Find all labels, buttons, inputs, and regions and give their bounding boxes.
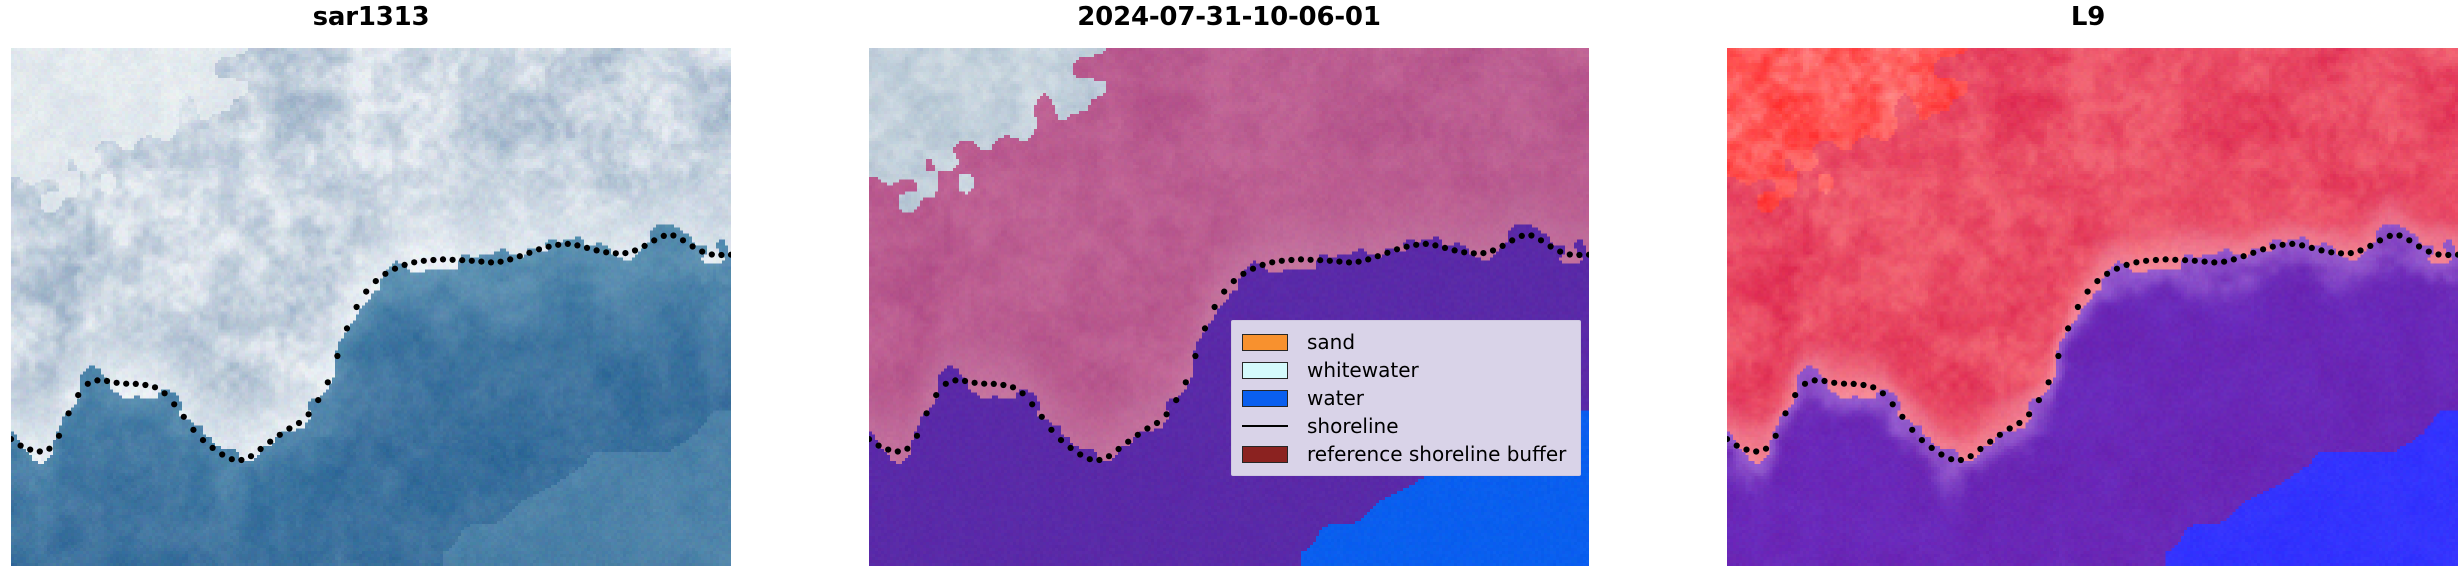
raster-rgb-satellite — [11, 48, 731, 566]
axes-middle[interactable] — [869, 48, 1589, 566]
legend-label-sand: sand — [1307, 331, 1355, 353]
raster-classification-overlay — [869, 48, 1589, 566]
panel-title-right: L9 — [1716, 2, 2460, 32]
axes-left[interactable] — [11, 48, 731, 566]
panel-title-middle: 2024-07-31-10-06-01 — [858, 2, 1600, 32]
legend[interactable]: sand whitewater water shoreline referenc… — [1231, 320, 1581, 476]
panel-sar1313: sar1313 — [0, 0, 742, 580]
legend-item-sand[interactable]: sand — [1242, 328, 1571, 356]
axes-right[interactable] — [1727, 48, 2458, 566]
shoreline-line-icon — [1242, 425, 1288, 427]
legend-label-water: water — [1307, 387, 1364, 409]
legend-item-shoreline[interactable]: shoreline — [1242, 412, 1571, 440]
legend-swatch-whitewater — [1242, 362, 1288, 379]
panel-l9: L9 — [1716, 0, 2460, 580]
legend-line-shoreline — [1242, 418, 1288, 435]
legend-swatch-reference-buffer — [1242, 446, 1288, 463]
panel-title-left: sar1313 — [0, 2, 742, 32]
legend-label-whitewater: whitewater — [1307, 359, 1419, 381]
legend-item-whitewater[interactable]: whitewater — [1242, 356, 1571, 384]
raster-index-render — [1727, 48, 2458, 566]
legend-item-reference-buffer[interactable]: reference shoreline buffer — [1242, 440, 1571, 468]
legend-swatch-sand — [1242, 334, 1288, 351]
panel-classification: 2024-07-31-10-06-01 — [858, 0, 1600, 580]
figure-root: sar1313 2024-07-31-10-06-01 L9 sand whit… — [0, 0, 2460, 580]
legend-label-shoreline: shoreline — [1307, 415, 1399, 437]
legend-item-water[interactable]: water — [1242, 384, 1571, 412]
legend-swatch-water — [1242, 390, 1288, 407]
legend-label-reference-buffer: reference shoreline buffer — [1307, 443, 1566, 465]
